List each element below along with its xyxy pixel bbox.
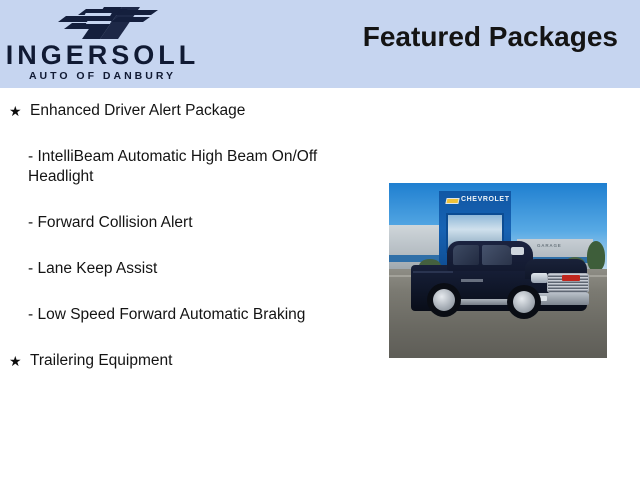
photo-truck-rear-window — [453, 245, 479, 265]
photo-truck-door-trim — [461, 279, 483, 282]
feature-item: - IntelliBeam Automatic High Beam On/Off… — [0, 147, 375, 187]
photo-truck-rear-wheel — [427, 283, 461, 317]
feature-item-label: - Lane Keep Assist — [28, 259, 328, 279]
feature-item-label: Enhanced Driver Alert Package — [30, 101, 330, 121]
feature-item-label: Trailering Equipment — [30, 351, 330, 371]
dealer-logo: INGERSOLL AUTO OF DANBURY — [0, 2, 215, 86]
page-title: Featured Packages — [363, 21, 618, 53]
chevrolet-bowtie-icon — [445, 198, 459, 204]
photo-dealership-sign-text: CHEVROLET — [461, 196, 510, 203]
content-area: ★Enhanced Driver Alert Package- IntelliB… — [0, 88, 640, 480]
feature-list: ★Enhanced Driver Alert Package- IntelliB… — [0, 88, 375, 384]
feature-item-label: - Forward Collision Alert — [28, 213, 328, 233]
vehicle-photo: GARAGE CHEVROLET — [389, 183, 607, 358]
star-bullet-icon: ★ — [9, 351, 22, 371]
logo-tagline: AUTO OF DANBURY — [0, 70, 205, 82]
photo-truck-bedline — [413, 271, 453, 273]
photo-truck-rear-rim — [433, 289, 455, 311]
photo-truck-mirror — [511, 247, 524, 255]
feature-item-label: - Low Speed Forward Automatic Braking — [28, 305, 328, 325]
photo-building-side-text: GARAGE — [537, 243, 562, 248]
feature-item-label: - IntelliBeam Automatic High Beam On/Off… — [28, 147, 328, 187]
photo-tree-1 — [587, 241, 605, 271]
photo-truck-headlight — [531, 273, 547, 283]
feature-item: ★Enhanced Driver Alert Package — [0, 101, 375, 121]
page-header-band: INGERSOLL AUTO OF DANBURY Featured Packa… — [0, 0, 640, 88]
ingersoll-winged-emblem-icon — [52, 5, 162, 41]
photo-truck-front-rim — [513, 291, 535, 313]
feature-item: ★Trailering Equipment — [0, 351, 375, 371]
star-bullet-icon: ★ — [9, 101, 22, 121]
photo-truck-front-wheel — [507, 285, 541, 319]
feature-item: - Low Speed Forward Automatic Braking — [0, 305, 375, 325]
feature-item: - Forward Collision Alert — [0, 213, 375, 233]
feature-item: - Lane Keep Assist — [0, 259, 375, 279]
photo-truck-front-window — [482, 245, 512, 265]
gmc-badge-icon — [562, 275, 580, 281]
logo-wordmark: INGERSOLL — [0, 40, 205, 70]
